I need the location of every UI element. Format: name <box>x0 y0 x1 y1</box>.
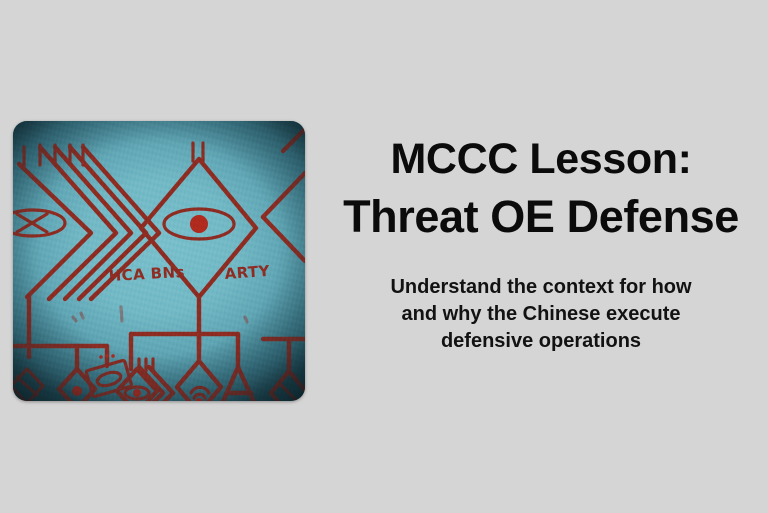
slide-text-block: MCCC Lesson: Threat OE Defense Understan… <box>326 130 756 355</box>
subtitle-line-1: Understand the context for how <box>326 274 756 301</box>
whiteboard-photo: HCA BNs ARTY <box>13 121 305 401</box>
slide-subtitle: Understand the context for how and why t… <box>326 274 756 355</box>
photo-vignette-overlay <box>13 121 305 401</box>
page-title-line-1: MCCC Lesson: <box>326 130 756 188</box>
subtitle-line-3: defensive operations <box>326 328 756 355</box>
page-title-line-2: Threat OE Defense <box>326 188 756 246</box>
subtitle-line-2: and why the Chinese execute <box>326 301 756 328</box>
slide-canvas: HCA BNs ARTY MCCC Lesson: Threat OE Defe… <box>0 0 768 513</box>
photo-inner: HCA BNs ARTY <box>13 121 305 401</box>
